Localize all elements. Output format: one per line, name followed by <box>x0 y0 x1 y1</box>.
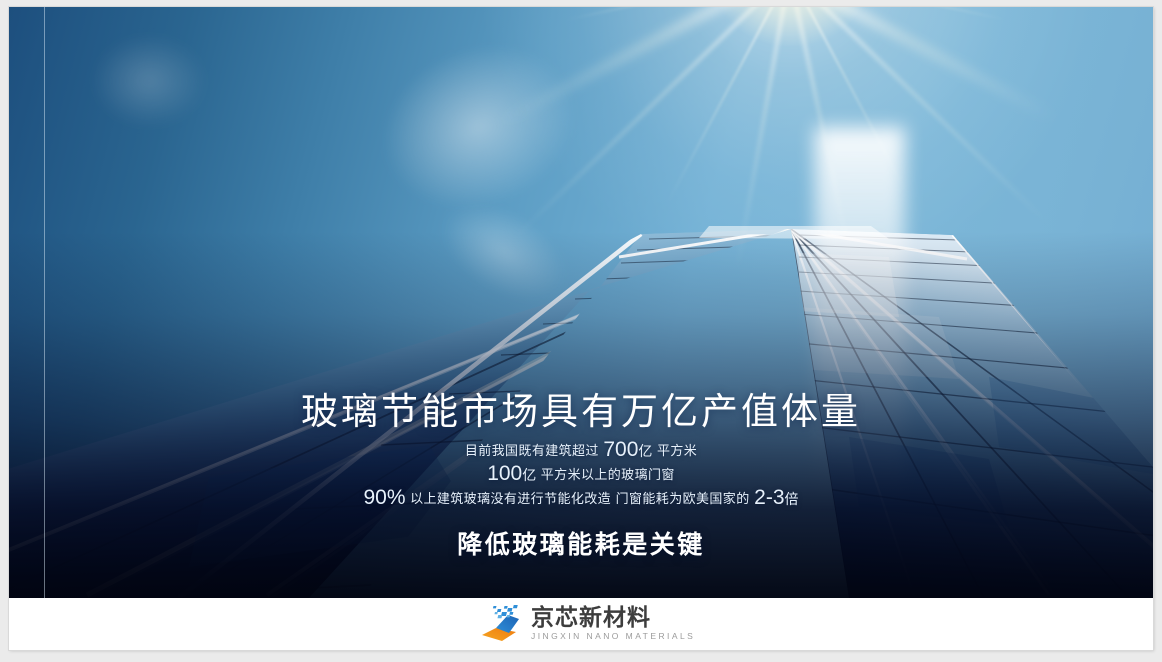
company-logo: 京芯新材料 JINGXIN NANO MATERIALS <box>479 604 695 644</box>
bottom-vignette <box>9 7 1153 598</box>
slide-footer: 京芯新材料 JINGXIN NANO MATERIALS <box>9 598 1153 650</box>
left-mullion-line <box>44 7 45 598</box>
logo-name-cn: 京芯新材料 <box>531 606 695 631</box>
hero-background-image: 玻璃节能市场具有万亿产值体量 目前我国既有建筑超过 700亿 平方米 100亿 … <box>9 7 1153 598</box>
logo-name-en: JINGXIN NANO MATERIALS <box>531 631 695 642</box>
logo-text-block: 京芯新材料 JINGXIN NANO MATERIALS <box>531 606 695 642</box>
jingxin-pixel-parallelogram-logo-icon <box>479 604 523 644</box>
presentation-slide: 玻璃节能市场具有万亿产值体量 目前我国既有建筑超过 700亿 平方米 100亿 … <box>9 7 1153 650</box>
